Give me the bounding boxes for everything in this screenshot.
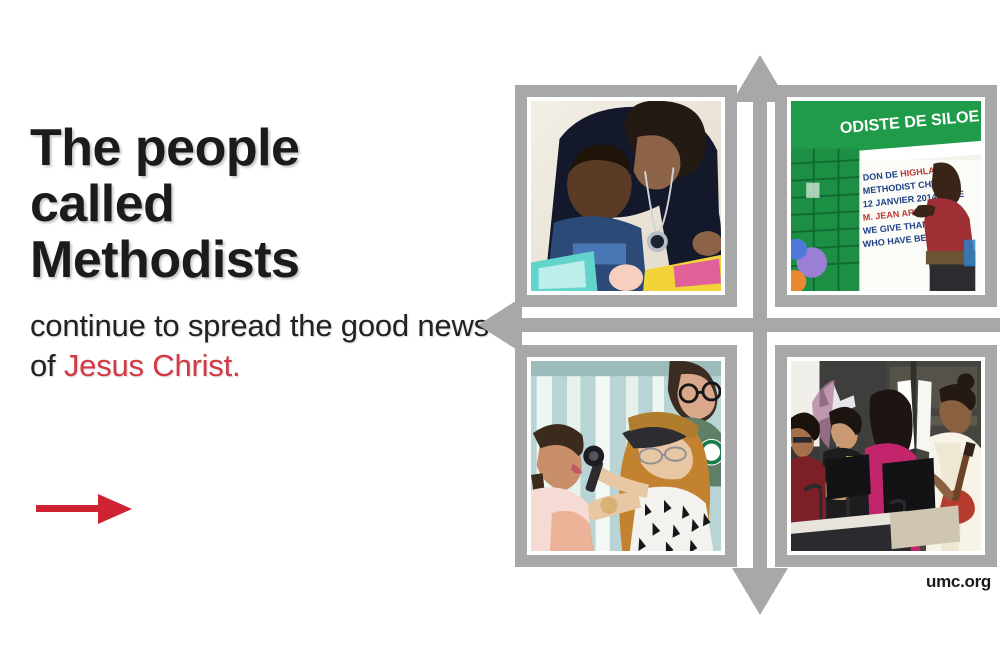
poster-canvas: The people called Methodists continue to… xyxy=(0,0,1000,665)
photo-inner-mat xyxy=(787,357,985,555)
red-arrow xyxy=(36,492,132,526)
photo-tutoring-art xyxy=(531,101,721,291)
photo-praise-band xyxy=(791,361,981,551)
photo-inner-mat xyxy=(527,97,725,295)
red-arrow-icon xyxy=(36,492,132,526)
photo-medical-mission xyxy=(531,361,721,551)
photo-frame-medical-mission xyxy=(515,345,737,567)
umc-wordmark[interactable]: umc.org xyxy=(926,572,991,592)
photo-inner-mat xyxy=(527,357,725,555)
photo-inner-mat: ODISTE DE SILOE xyxy=(787,97,985,295)
subhead-accent: Jesus Christ. xyxy=(64,348,241,383)
page-title: The people called Methodists xyxy=(30,120,490,288)
photo-frame-church-sign: ODISTE DE SILOE xyxy=(775,85,997,307)
photo-frame-praise-band xyxy=(775,345,997,567)
subhead: continue to spread the good news of Jesu… xyxy=(30,306,490,385)
photo-medical-mission-art xyxy=(531,361,721,551)
photo-tutoring xyxy=(531,101,721,291)
copy-block: The people called Methodists continue to… xyxy=(30,120,490,386)
photo-frame-tutoring xyxy=(515,85,737,307)
photo-church-sign-art: ODISTE DE SILOE xyxy=(791,101,981,291)
photo-church-sign: ODISTE DE SILOE xyxy=(791,101,981,291)
photo-praise-band-art xyxy=(791,361,981,551)
